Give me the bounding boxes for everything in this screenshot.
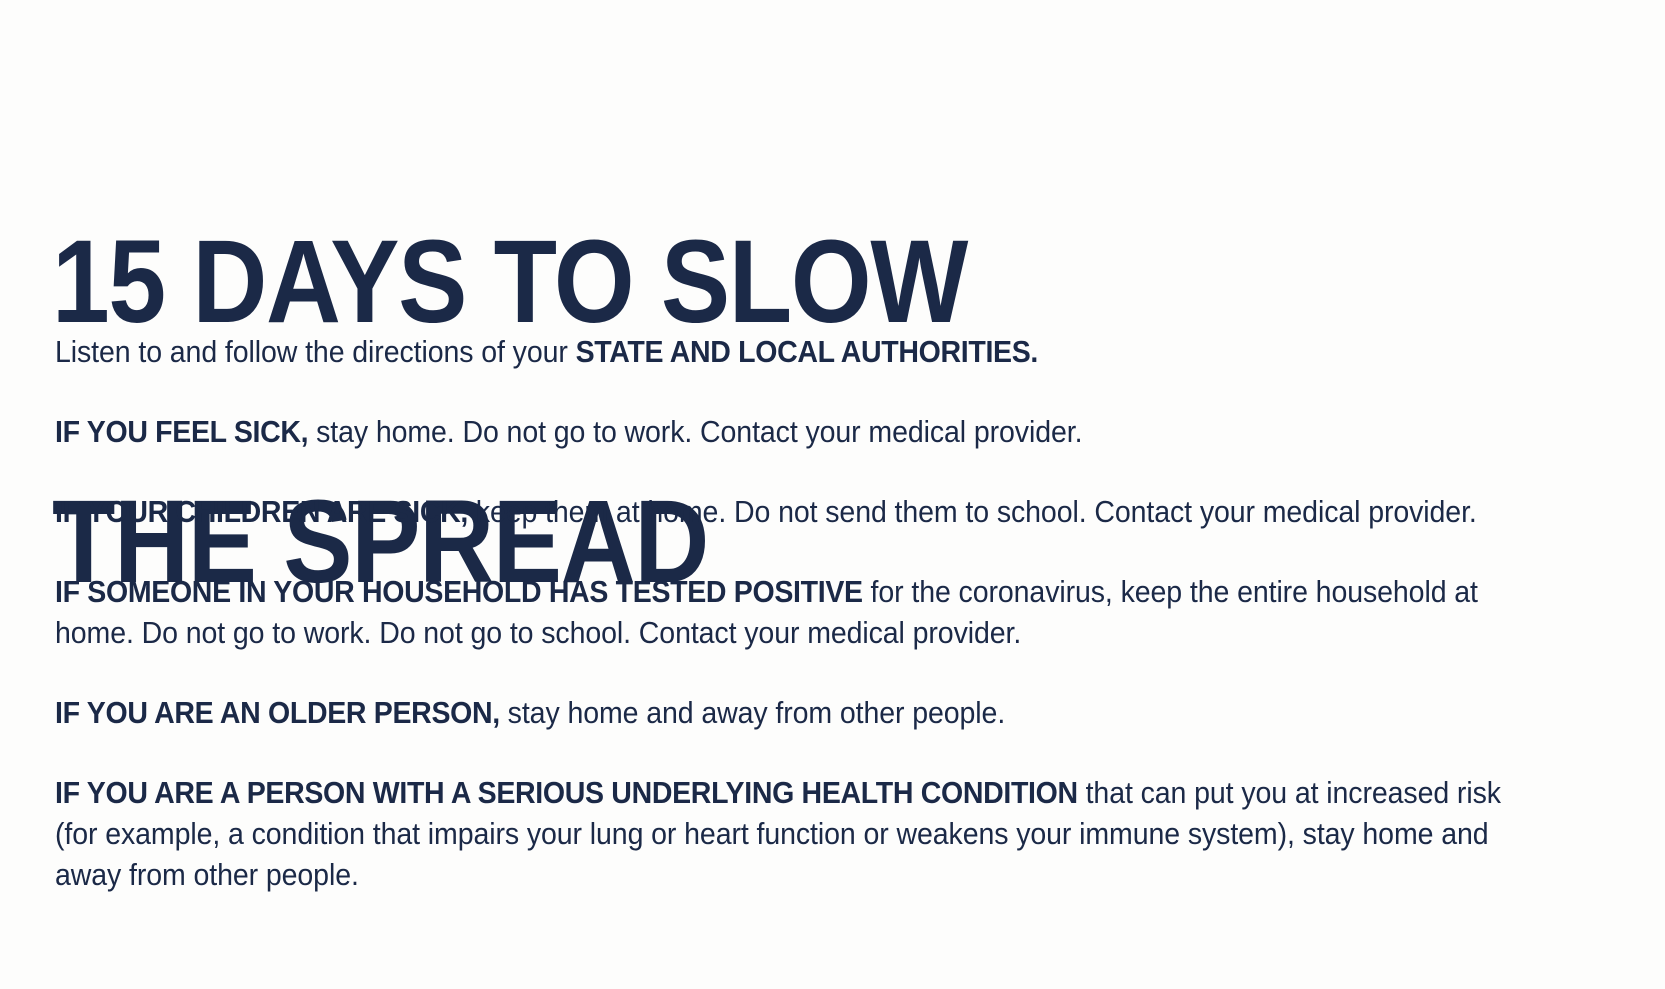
guidance-item-authorities: Listen to and follow the directions of y… bbox=[55, 332, 1523, 373]
guidance-item-older-person: IF YOU ARE AN OLDER PERSON, stay home an… bbox=[55, 693, 1523, 734]
guidance-body-text: stay home and away from other people. bbox=[500, 696, 1005, 730]
guidance-body-text: keep them at home. Do not send them to s… bbox=[468, 495, 1477, 529]
guidance-lead-in: IF YOU ARE A PERSON WITH A SERIOUS UNDER… bbox=[55, 776, 1078, 810]
guidance-item-children-sick: IF YOUR CHILDREN ARE SICK, keep them at … bbox=[55, 492, 1523, 533]
guidance-body-text: stay home. Do not go to work. Contact yo… bbox=[308, 415, 1082, 449]
guidance-text-prefix: Listen to and follow the directions of y… bbox=[55, 335, 576, 369]
headline-line-1: 15 DAYS TO SLOW bbox=[52, 217, 1425, 347]
guidance-list: Listen to and follow the directions of y… bbox=[55, 332, 1625, 896]
guidance-emphasis: STATE AND LOCAL AUTHORITIES. bbox=[576, 335, 1038, 369]
guidance-lead-in: IF YOU ARE AN OLDER PERSON, bbox=[55, 696, 500, 730]
guidance-item-feel-sick: IF YOU FEEL SICK, stay home. Do not go t… bbox=[55, 412, 1523, 453]
guidance-lead-in: IF SOMEONE IN YOUR HOUSEHOLD HAS TESTED … bbox=[55, 575, 863, 609]
poster-root: 15 DAYS TO SLOW THE SPREAD Listen to and… bbox=[0, 0, 1665, 989]
guidance-item-underlying-condition: IF YOU ARE A PERSON WITH A SERIOUS UNDER… bbox=[55, 773, 1523, 896]
guidance-lead-in: IF YOU FEEL SICK, bbox=[55, 415, 308, 449]
guidance-item-household-positive: IF SOMEONE IN YOUR HOUSEHOLD HAS TESTED … bbox=[55, 572, 1523, 654]
guidance-lead-in: IF YOUR CHILDREN ARE SICK, bbox=[55, 495, 468, 529]
